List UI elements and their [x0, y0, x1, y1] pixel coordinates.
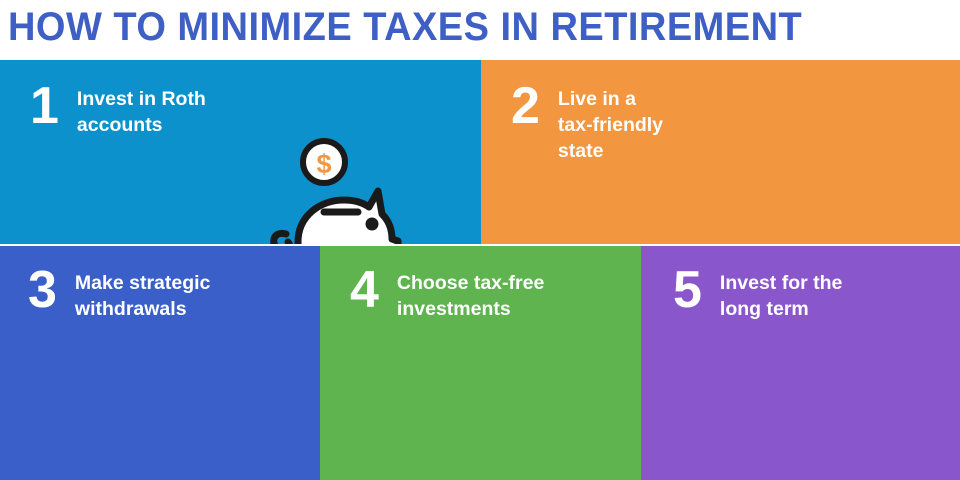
infographic-canvas: HOW TO MINIMIZE TAXES IN RETIREMENT 1 In… [0, 0, 960, 480]
tip-4-number: 4 [350, 266, 379, 314]
tip-4-heading: 4 Choose tax-free investments [350, 266, 544, 322]
tip-5-number: 5 [673, 266, 702, 314]
tip-1-heading: 1 Invest in Roth accounts [30, 82, 206, 138]
tip-2-number: 2 [511, 82, 540, 130]
header-band: HOW TO MINIMIZE TAXES IN RETIREMENT [0, 0, 960, 60]
tip-panel-5[interactable]: 5 Invest for the long term [641, 246, 960, 480]
tip-panel-2[interactable]: 2 Live in a tax-friendly state [481, 60, 960, 244]
svg-text:$: $ [316, 149, 331, 179]
tip-1-label: Invest in Roth accounts [77, 86, 206, 138]
tip-3-heading: 3 Make strategic withdrawals [28, 266, 210, 322]
tip-panel-4[interactable]: 4 Choose tax-free investments [320, 246, 641, 480]
tip-5-label: Invest for the long term [720, 270, 842, 322]
tip-2-label: Live in a tax-friendly state [558, 86, 663, 164]
tip-5-heading: 5 Invest for the long term [673, 266, 842, 322]
tip-1-number: 1 [30, 82, 59, 130]
tip-3-label: Make strategic withdrawals [75, 270, 210, 322]
tip-2-heading: 2 Live in a tax-friendly state [511, 82, 663, 164]
tip-panel-1[interactable]: 1 Invest in Roth accounts $ [0, 60, 481, 244]
tip-4-label: Choose tax-free investments [397, 270, 544, 322]
tip-3-number: 3 [28, 266, 57, 314]
page-title: HOW TO MINIMIZE TAXES IN RETIREMENT [8, 0, 802, 56]
tip-panel-3[interactable]: 3 Make strategic withdrawals [0, 246, 320, 480]
piggy-bank-with-coin-icon: $ [262, 138, 402, 244]
